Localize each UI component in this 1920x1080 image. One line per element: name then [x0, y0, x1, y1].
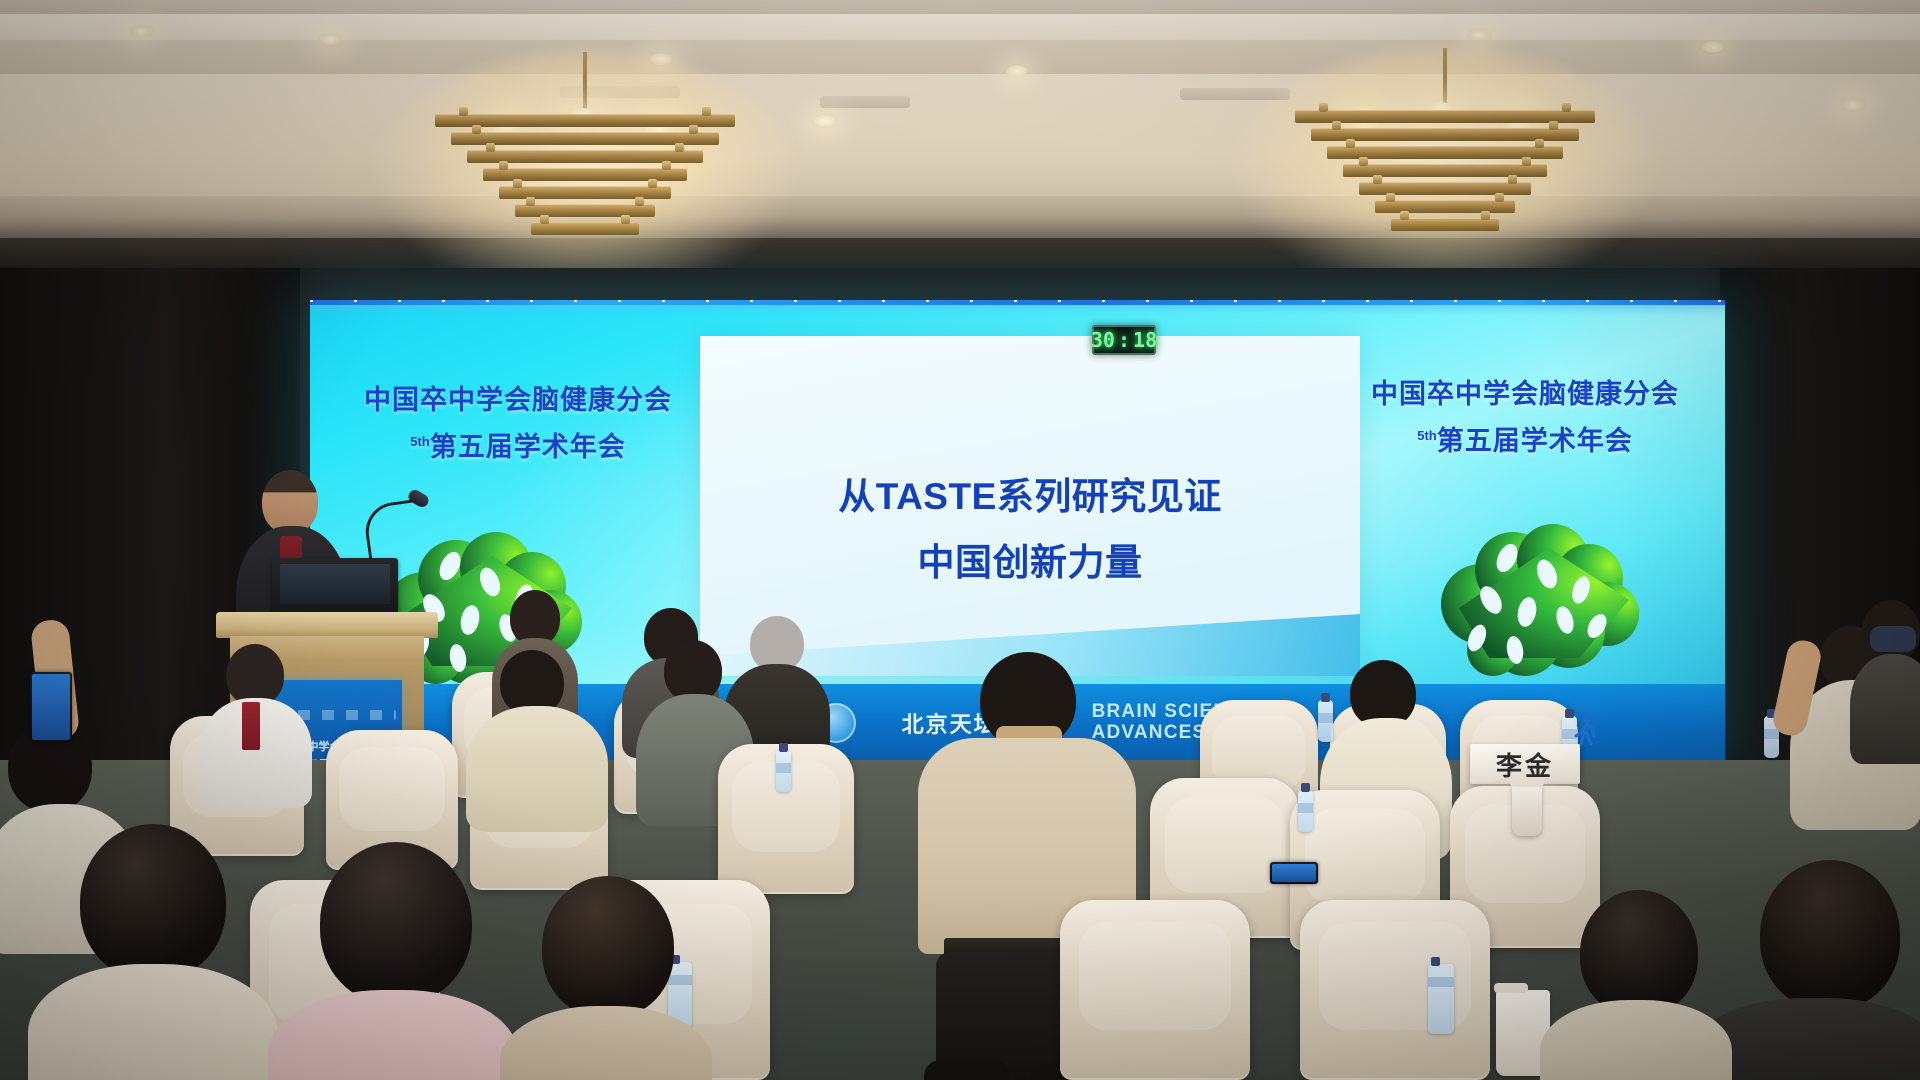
branding-left-superscript: 5th	[410, 434, 430, 449]
slide-title-line2: 中国创新力量	[700, 532, 1360, 586]
audience-head	[320, 842, 472, 1004]
chandelier-tier	[1375, 200, 1515, 213]
audience-head	[1580, 890, 1698, 1016]
audience-lanyard	[242, 702, 260, 750]
timer-seconds: 18	[1133, 330, 1157, 350]
audience-body	[500, 1006, 712, 1080]
audience-head	[226, 644, 284, 706]
water-bottle	[776, 750, 791, 792]
chandelier-tier	[531, 222, 639, 235]
conference-hall-scene: 中国卒中学会脑健康分会 5th第五届学术年会 中国卒中学会脑健康分会 5th第五…	[0, 0, 1920, 1080]
conference-branding-right: 中国卒中学会脑健康分会 5th第五届学术年会	[1335, 372, 1715, 458]
ceiling-downlight	[318, 32, 344, 46]
runner-figure-icon	[1572, 714, 1598, 748]
audience-body-pink	[268, 990, 518, 1080]
audience-chair	[1300, 900, 1490, 1080]
chandelier-tiers	[435, 114, 735, 240]
chandelier-tier	[1359, 182, 1531, 195]
smartphone-recording	[30, 672, 72, 742]
audience-member-foreground	[268, 842, 518, 1080]
audience-head	[1760, 860, 1900, 1010]
chandelier-tier	[499, 186, 671, 199]
paper-cup	[1512, 784, 1542, 836]
ceiling-downlight	[812, 114, 838, 128]
branding-left-line2-text: 第五届学术年会	[430, 432, 626, 462]
chandelier-tier	[1391, 218, 1499, 231]
branding-right-line2: 5th第五届学术年会	[1335, 419, 1715, 458]
branding-left-line2: 5th第五届学术年会	[328, 425, 708, 464]
face-mask	[1870, 626, 1916, 652]
chandelier-tiers	[1295, 110, 1595, 236]
audience-member-foreground	[38, 824, 268, 1080]
podium-laptop	[272, 558, 398, 614]
timer-minutes: 30	[1091, 330, 1115, 350]
audience-member-foreground	[1700, 860, 1920, 1080]
audience-member	[200, 644, 310, 774]
green-brain-leaf-logo-icon	[1429, 508, 1669, 688]
kneeling-shoe	[924, 1060, 1010, 1080]
ceiling-downlight	[1466, 28, 1492, 42]
ceiling-downlight	[128, 24, 154, 38]
branding-right-line2-text: 第五届学术年会	[1437, 426, 1633, 456]
smartphone-on-chair	[1270, 862, 1318, 884]
presenter-head	[262, 470, 318, 534]
audience-body	[1540, 1000, 1732, 1080]
ceiling-downlight	[1004, 64, 1030, 78]
audience-body	[28, 964, 278, 1080]
audience-member-foreground	[500, 876, 710, 1080]
conference-branding-left: 中国卒中学会脑健康分会 5th第五届学术年会	[328, 378, 708, 464]
chandelier-tier	[515, 204, 655, 217]
audience-head	[664, 640, 722, 702]
audience-chair	[1060, 900, 1250, 1080]
audience-member	[466, 650, 606, 800]
podium-lectern-top	[216, 612, 438, 638]
ceiling-band-light	[0, 14, 1920, 40]
ceiling-band-inner	[0, 40, 1920, 74]
ceiling-band-outer	[0, 0, 1920, 14]
branding-right-line1: 中国卒中学会脑健康分会	[1335, 372, 1715, 411]
slide-title-line1: 从TASTE系列研究见证	[700, 466, 1360, 520]
audience-head	[542, 876, 674, 1018]
countdown-timer: 30 : 18	[1092, 325, 1156, 355]
water-bottle	[1298, 790, 1313, 832]
audience-member-foreground	[1540, 880, 1730, 1080]
podium-microphone	[366, 496, 432, 566]
branding-left-line1: 中国卒中学会脑健康分会	[328, 378, 708, 417]
ceiling-vent	[820, 96, 910, 108]
audience-member-masked	[1856, 600, 1920, 750]
water-bottle	[1428, 964, 1454, 1034]
audience-body	[1850, 654, 1920, 764]
branding-right-superscript: 5th	[1417, 428, 1437, 443]
audience-body	[466, 706, 608, 832]
timer-separator: :	[1118, 330, 1130, 350]
audience-head	[80, 824, 226, 980]
ceiling-downlight	[1840, 98, 1866, 112]
ceiling-downlight	[1700, 40, 1726, 54]
